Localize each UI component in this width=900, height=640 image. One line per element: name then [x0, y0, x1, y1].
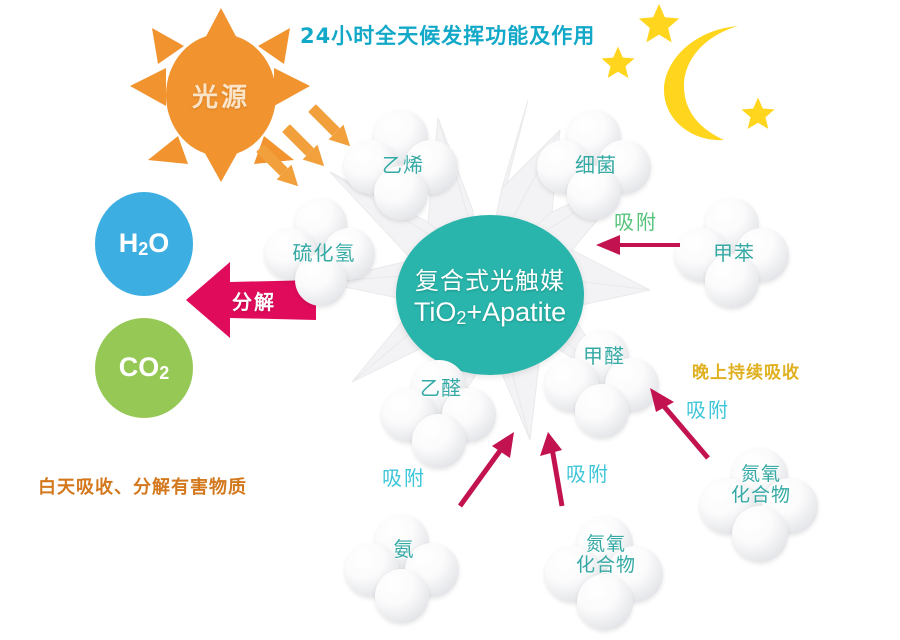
- adsorb-label-toluene: 吸附: [614, 206, 658, 235]
- star-icon: [740, 96, 776, 137]
- molecule-cluster-nitrogen-oxides-right: 氮氧 化合物: [700, 448, 822, 566]
- molecule-cluster-nitrogen-oxides-bottom: 氮氧 化合物: [545, 516, 667, 634]
- sun-core: 光源: [166, 34, 276, 156]
- h2o-label: H2O: [119, 228, 170, 260]
- adsorb-label-nox-bottom: 吸附: [566, 458, 610, 487]
- molecule-cluster-ammonia: 氨: [345, 515, 463, 627]
- adsorb-label-ammonia: 吸附: [382, 462, 426, 491]
- molecule-cluster-hydrogen-sulfide: 硫化氢: [265, 198, 383, 310]
- output-circle-h2o: H2O: [95, 192, 193, 296]
- molecule-cluster-toluene: 甲苯: [675, 198, 793, 310]
- molecule-cluster-formaldehyde: 甲醛: [545, 330, 663, 442]
- co2-label: CO2: [119, 352, 170, 384]
- core-title-cn: 复合式光触媒: [415, 261, 565, 296]
- caption-nighttime: 晚上持续吸收: [692, 358, 800, 383]
- star-icon: [637, 2, 681, 51]
- output-circle-co2: CO2: [95, 318, 193, 418]
- star-icon: [600, 45, 636, 86]
- adsorb-arrow-ammonia: [452, 430, 520, 515]
- core-title-en: TiO2+Apatite: [414, 297, 566, 329]
- page-title: 24小时全天候发挥功能及作用: [300, 20, 595, 50]
- diagram-canvas: 光源 24小时全天候发挥功能及作用: [0, 0, 900, 640]
- sun-label: 光源: [192, 77, 250, 114]
- caption-daytime: 白天吸收、分解有害物质: [38, 473, 247, 499]
- adsorb-arrow-toluene: [596, 232, 682, 263]
- adsorb-label-nox-right: 吸附: [686, 394, 730, 423]
